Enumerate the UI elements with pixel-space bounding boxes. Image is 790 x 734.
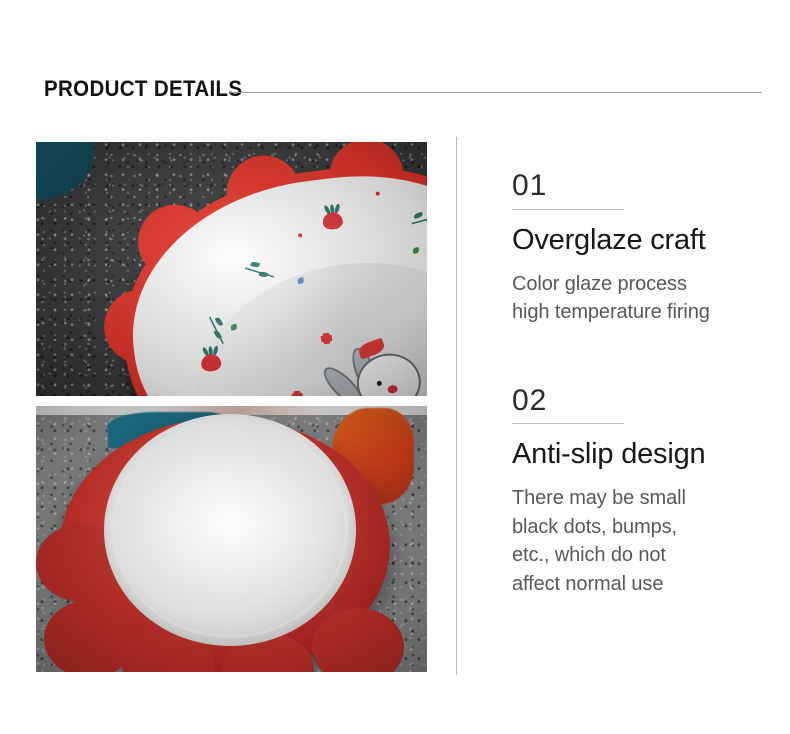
product-details-page: PRODUCT DETAILS: [0, 0, 790, 734]
feature-title: Anti-slip design: [512, 438, 774, 471]
feature-description-line: black dots, bumps,: [512, 513, 774, 541]
feature-number-underline: [512, 423, 624, 424]
page-header: PRODUCT DETAILS: [0, 0, 790, 120]
feature-number: 02: [512, 385, 774, 417]
product-photo-bowl-interior: [36, 142, 427, 396]
feature-description-line: high temperature firing: [512, 298, 774, 326]
feature-number-underline: [512, 209, 624, 210]
feature-description: Color glaze process high temperature fir…: [512, 270, 774, 327]
feature-block-02: 02 Anti-slip design There may be small b…: [512, 385, 774, 598]
feature-description-line: Color glaze process: [512, 270, 774, 298]
feature-description: There may be small black dots, bumps, et…: [512, 484, 774, 598]
product-photo-bowl-underside: [36, 406, 427, 672]
feature-description-line: etc., which do not: [512, 541, 774, 569]
header-divider-rule: [230, 92, 762, 93]
feature-description-line: There may be small: [512, 484, 774, 512]
product-photo-column: [36, 142, 427, 672]
column-divider: [456, 137, 457, 675]
feature-title: Overglaze craft: [512, 224, 774, 257]
page-title: PRODUCT DETAILS: [44, 76, 242, 102]
photo-vignette: [36, 406, 427, 672]
photo-vignette: [36, 142, 427, 396]
feature-description-line: affect normal use: [512, 570, 774, 598]
content-area: 01 Overglaze craft Color glaze process h…: [0, 120, 790, 680]
feature-block-01: 01 Overglaze craft Color glaze process h…: [512, 170, 774, 327]
feature-number: 01: [512, 170, 774, 202]
feature-text-column: 01 Overglaze craft Color glaze process h…: [512, 142, 774, 598]
